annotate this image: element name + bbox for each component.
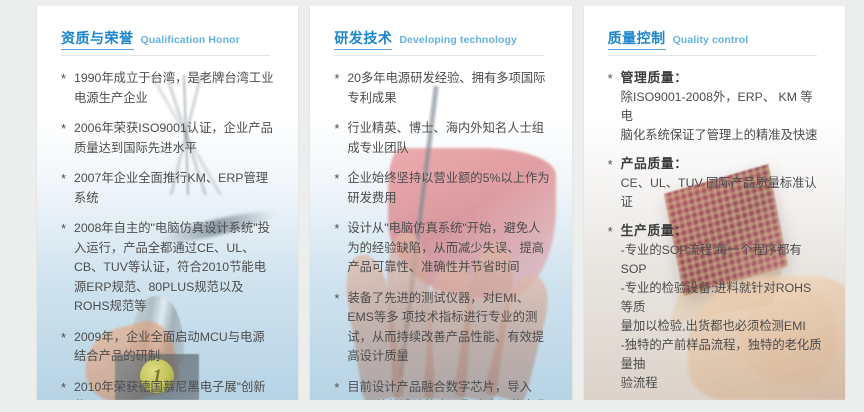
list-item: * 2007年企业全面推行KM、ERP管理系统 [61, 169, 276, 208]
asterisk-icon: * [61, 119, 74, 158]
list-item-text: 2009年，企业全面启动MCU与电源结合产品的研制 [74, 328, 276, 367]
asterisk-icon: * [334, 378, 347, 401]
asterisk-icon: * [61, 328, 74, 367]
list-item-line: -独特的产前样品流程，独特的老化质量抽 [621, 336, 823, 374]
panel-2-header: 研发技术Developing technology [334, 28, 549, 56]
list-item-body: 产品质量： CE、UL、TUV 国际产品质量标准认证 [621, 155, 823, 212]
panel-2-content: 研发技术Developing technology * 20多年电源研发经验、拥… [310, 6, 571, 400]
panel-1-title-en: Qualification Honor [141, 34, 240, 46]
panel-qualification-honor: 1 资质与荣誉Qualification Honor * 1990年成立于台湾，… [36, 6, 299, 400]
list-item: * 目前设计产品融合数字芯片，导入MCU软件设计能力，配合电源的专业知识，并以人… [334, 378, 549, 401]
asterisk-icon: * [334, 69, 347, 108]
list-item: * 2009年，企业全面启动MCU与电源结合产品的研制 [61, 328, 276, 367]
list-item-line: 量加以检验,出货都也必须检测EMI [621, 317, 823, 336]
list-item-label: 管理质量： [621, 69, 823, 88]
asterisk-icon: * [61, 378, 74, 401]
list-item-text: 1990年成立于台湾，是老牌台湾工业电源生产企业 [74, 69, 276, 108]
list-item-text: 企业始终坚持以营业额的5%以上作为研发费用 [347, 169, 549, 208]
list-item: * 2006年荣获ISO9001认证，企业产品质量达到国际先进水平 [61, 119, 276, 158]
list-item-text: 设计从"电脑仿真系统"开始，避免人为的经验缺陷，从而减少失误、提高产品可靠性、准… [347, 219, 549, 278]
panel-2-title-cn: 研发技术 [334, 30, 392, 50]
panel-developing-technology: 研发技术Developing technology * 20多年电源研发经验、拥… [309, 6, 572, 400]
asterisk-icon: * [334, 289, 347, 367]
asterisk-icon: * [334, 219, 347, 278]
list-item-text: 2010年荣获德国慕尼黑电子展"创新奖" [74, 378, 276, 401]
list-item: * 设计从"电脑仿真系统"开始，避免人为的经验缺陷，从而减少失误、提高产品可靠性… [334, 219, 549, 278]
asterisk-icon: * [61, 219, 74, 317]
panel-quality-control: 质量控制Quality control * 管理质量： 除ISO9001-200… [583, 6, 846, 400]
panel-2-bullet-list: * 20多年电源研发经验、拥有多项国际专利成果 * 行业精英、博士、海内外知名人… [334, 69, 549, 400]
list-item-body: 管理质量： 除ISO9001-2008外，ERP、 KM 等电 脑化系统保证了管… [621, 69, 823, 145]
feature-panels-board: 1 资质与荣誉Qualification Honor * 1990年成立于台湾，… [0, 0, 864, 412]
list-item-text: 行业精英、博士、海内外知名人士组成专业团队 [347, 119, 549, 158]
list-item: * 行业精英、博士、海内外知名人士组成专业团队 [334, 119, 549, 158]
list-item-line: -专业的SOP流程:每一个程序都有SOP [621, 241, 823, 279]
list-item-text: 目前设计产品融合数字芯片，导入MCU软件设计能力，配合电源的专业知识，并以人性化… [347, 378, 549, 401]
list-item-line: CE、UL、TUV 国际产品质量标准认证 [621, 174, 823, 212]
list-item: * 企业始终坚持以营业额的5%以上作为研发费用 [334, 169, 549, 208]
list-item-text: 2006年荣获ISO9001认证，企业产品质量达到国际先进水平 [74, 119, 276, 158]
panel-1-header: 资质与荣誉Qualification Honor [61, 28, 276, 56]
list-item-text: 装备了先进的测试仪器，对EMI、EMS等多 项技术指标进行专业的测试，从而持续改… [347, 289, 549, 367]
list-item: * 管理质量： 除ISO9001-2008外，ERP、 KM 等电 脑化系统保证… [608, 69, 823, 145]
list-item: * 20多年电源研发经验、拥有多项国际专利成果 [334, 69, 549, 108]
list-item-body: 生产质量： -专业的SOP流程:每一个程序都有SOP -专业的检验设备:进料就针… [621, 222, 823, 393]
panel-1-title-cn: 资质与荣誉 [61, 30, 134, 50]
list-item: * 装备了先进的测试仪器，对EMI、EMS等多 项技术指标进行专业的测试，从而持… [334, 289, 549, 367]
list-item-label: 生产质量： [621, 222, 823, 241]
panel-3-bullet-list: * 管理质量： 除ISO9001-2008外，ERP、 KM 等电 脑化系统保证… [608, 69, 823, 400]
panel-1-bullet-list: * 1990年成立于台湾，是老牌台湾工业电源生产企业 * 2006年荣获ISO9… [61, 69, 276, 400]
list-item-text: 2007年企业全面推行KM、ERP管理系统 [74, 169, 276, 208]
list-item: * 生产质量： -专业的SOP流程:每一个程序都有SOP -专业的检验设备:进料… [608, 222, 823, 393]
list-item: * 产品质量： CE、UL、TUV 国际产品质量标准认证 [608, 155, 823, 212]
asterisk-icon: * [608, 69, 621, 145]
list-item-line: -专业的检验设备:进料就针对ROHS等质 [621, 279, 823, 317]
panel-1-content: 资质与荣誉Qualification Honor * 1990年成立于台湾，是老… [37, 6, 298, 400]
list-item: * 2008年自主的"电脑仿真设计系统"投入运行，产品全都通过CE、UL、CB、… [61, 219, 276, 317]
panel-3-title-en: Quality control [673, 34, 749, 46]
list-item-line: 脑化系统保证了管理上的精准及快速 [621, 126, 823, 145]
list-item-text: 2008年自主的"电脑仿真设计系统"投入运行，产品全都通过CE、UL、CB、TU… [74, 219, 276, 317]
list-item: * 1990年成立于台湾，是老牌台湾工业电源生产企业 [61, 69, 276, 108]
panel-3-content: 质量控制Quality control * 管理质量： 除ISO9001-200… [584, 6, 845, 400]
list-item-line: 除ISO9001-2008外，ERP、 KM 等电 [621, 88, 823, 126]
panel-3-title-cn: 质量控制 [608, 30, 666, 50]
asterisk-icon: * [61, 69, 74, 108]
panel-2-title-en: Developing technology [399, 34, 517, 46]
asterisk-icon: * [608, 222, 621, 393]
asterisk-icon: * [61, 169, 74, 208]
asterisk-icon: * [608, 155, 621, 212]
asterisk-icon: * [334, 169, 347, 208]
panel-3-header: 质量控制Quality control [608, 28, 823, 56]
list-item-text: 20多年电源研发经验、拥有多项国际专利成果 [347, 69, 549, 108]
list-item: * 2010年荣获德国慕尼黑电子展"创新奖" [61, 378, 276, 401]
list-item-line: 验流程 [621, 374, 823, 393]
asterisk-icon: * [334, 119, 347, 158]
list-item-label: 产品质量： [621, 155, 823, 174]
